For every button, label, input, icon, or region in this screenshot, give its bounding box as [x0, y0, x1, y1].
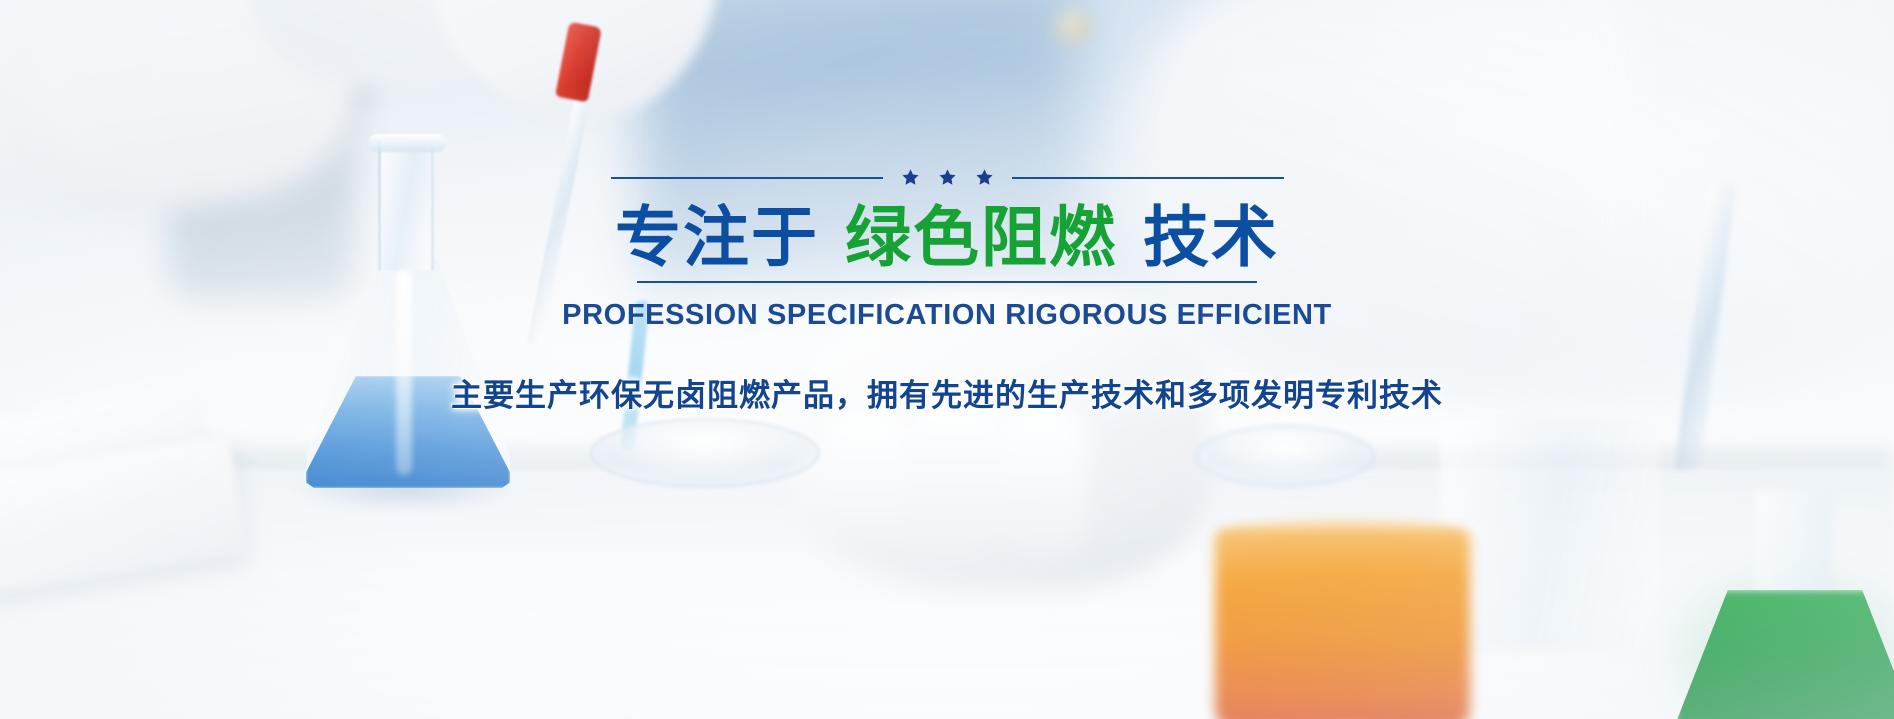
- decorative-divider: [611, 168, 1284, 187]
- divider-rule-left: [611, 177, 883, 179]
- star-icon: [901, 168, 920, 187]
- subtitle-english: PROFESSION SPECIFICATION RIGOROUS EFFICI…: [562, 299, 1332, 332]
- headline-part-2: 绿色阻燃: [845, 199, 1117, 277]
- banner-copy: 专注于 绿色阻燃 技术 PROFESSION SPECIFICATION RIG…: [0, 0, 1894, 719]
- star-icon: [975, 168, 994, 187]
- star-group: [897, 168, 998, 187]
- headline-underline: [637, 281, 1257, 283]
- headline-part-1: 专注于: [615, 199, 819, 277]
- page-title: 专注于 绿色阻燃 技术: [615, 199, 1279, 277]
- hero-banner: 专注于 绿色阻燃 技术 PROFESSION SPECIFICATION RIG…: [0, 0, 1894, 719]
- headline-part-3: 技术: [1143, 199, 1279, 277]
- star-icon: [938, 168, 957, 187]
- subtitle-chinese: 主要生产环保无卤阻燃产品，拥有先进的生产技术和多项发明专利技术: [451, 370, 1443, 415]
- divider-rule-right: [1012, 177, 1284, 179]
